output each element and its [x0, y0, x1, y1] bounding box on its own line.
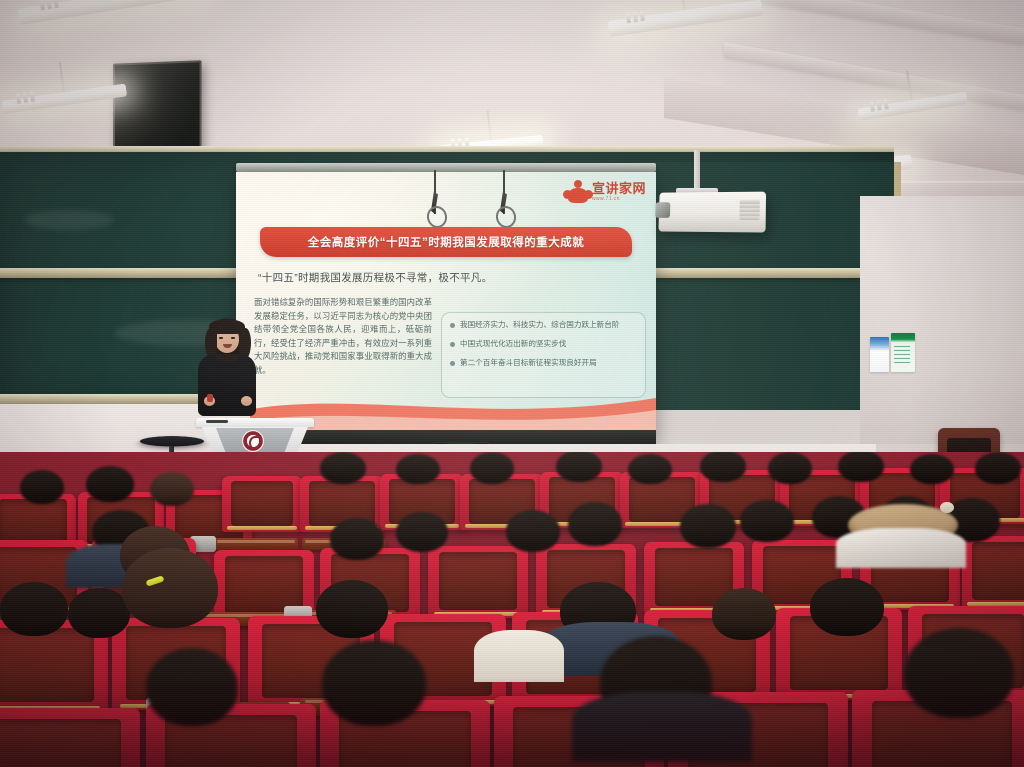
floor-shadow	[0, 677, 1024, 767]
bullet-dot-icon	[450, 323, 455, 328]
attendee-head	[838, 452, 884, 482]
hanging-clip	[434, 170, 436, 214]
attendee-head	[700, 452, 746, 482]
attendee-shoulders	[836, 528, 966, 568]
ceiling-projector	[658, 192, 766, 233]
safety-notice-green	[891, 333, 915, 372]
bullet-dot-icon	[450, 361, 455, 366]
attendee-head	[150, 472, 194, 506]
attendee-head	[712, 588, 776, 640]
projector-vent	[739, 200, 759, 220]
slide-subtitle: “十四五”时期我国发展历程极不寻常，极不平凡。	[258, 270, 492, 285]
fold-desk	[214, 538, 298, 550]
projector-lens-icon	[655, 202, 670, 218]
microphone-icon	[206, 420, 228, 423]
attendee-head	[320, 452, 366, 484]
attendee-head	[68, 588, 130, 638]
attendee-head	[330, 518, 384, 560]
lecture-hall-photo: 宣讲家网 www.71.cn 全会高度评价“十四五”时期我国发展取得的重大成就 …	[0, 0, 1024, 767]
attendee-head	[740, 500, 794, 542]
attendee-head	[86, 466, 134, 502]
safety-notice-blue	[870, 337, 889, 372]
attendee-head	[506, 510, 560, 552]
slide-brand-logo: 宣讲家网 www.71.cn	[567, 180, 646, 204]
brand-url: www.71.cn	[592, 197, 646, 202]
speaker-figure-icon	[567, 180, 589, 204]
bullet-dot-icon	[450, 342, 455, 347]
attendee-head	[0, 582, 68, 636]
seat	[222, 476, 302, 532]
hanging-clip	[503, 170, 505, 214]
audience-seating-area	[0, 452, 1024, 767]
bullet-label: 第二个百年奋斗目标新征程实现良好开局	[460, 358, 597, 368]
attendee-head	[316, 580, 388, 638]
university-crest-icon	[242, 430, 264, 452]
right-lower-wall	[860, 196, 1024, 444]
hair-scrunchie	[940, 502, 954, 513]
chalk-smudge	[24, 210, 114, 230]
slide-bullet-box: 我国经济实力、科技实力、综合国力跃上新台阶 中国式现代化迈出新的坚实步伐 第二个…	[441, 312, 646, 398]
attendee-head	[396, 454, 440, 484]
slide-title-banner: 全会高度评价“十四五”时期我国发展取得的重大成就	[260, 227, 632, 257]
list-item: 我国经济实力、科技实力、综合国力跃上新台阶	[450, 320, 637, 330]
list-item: 第二个百年奋斗目标新征程实现良好开局	[450, 358, 637, 368]
attendee-head	[20, 470, 64, 504]
attendee-head	[628, 454, 672, 484]
attendee-head	[556, 452, 602, 482]
attendee-head	[470, 452, 514, 484]
projector-mount-rod	[694, 150, 700, 190]
attendee-head	[680, 504, 736, 548]
presentation-slide: 宣讲家网 www.71.cn 全会高度评价“十四五”时期我国发展取得的重大成就 …	[236, 172, 656, 430]
attendee-head	[396, 512, 448, 552]
attendee-shoulders	[474, 630, 564, 682]
attendee-head	[975, 452, 1021, 484]
attendee-head	[568, 502, 622, 546]
bullet-label: 我国经济实力、科技实力、综合国力跃上新台阶	[460, 320, 619, 330]
blackboard-top-frame	[0, 146, 894, 152]
list-item: 中国式现代化迈出新的坚实步伐	[450, 339, 637, 349]
attendee-head	[122, 548, 218, 628]
attendee-head	[910, 454, 954, 484]
screen-rail	[236, 163, 656, 172]
presenter	[192, 318, 262, 422]
seat	[428, 546, 528, 618]
slide-body-paragraph: 面对错综复杂的国际形势和艰巨繁重的国内改革发展稳定任务，以习近平同志为核心的党中…	[254, 296, 432, 378]
attendee-head	[768, 452, 812, 484]
bullet-label: 中国式现代化迈出新的坚实步伐	[460, 339, 566, 349]
seat	[962, 536, 1024, 608]
brand-name: 宣讲家网	[592, 182, 646, 195]
slide-title: 全会高度评价“十四五”时期我国发展取得的重大成就	[308, 234, 585, 250]
attendee-head	[810, 578, 884, 636]
